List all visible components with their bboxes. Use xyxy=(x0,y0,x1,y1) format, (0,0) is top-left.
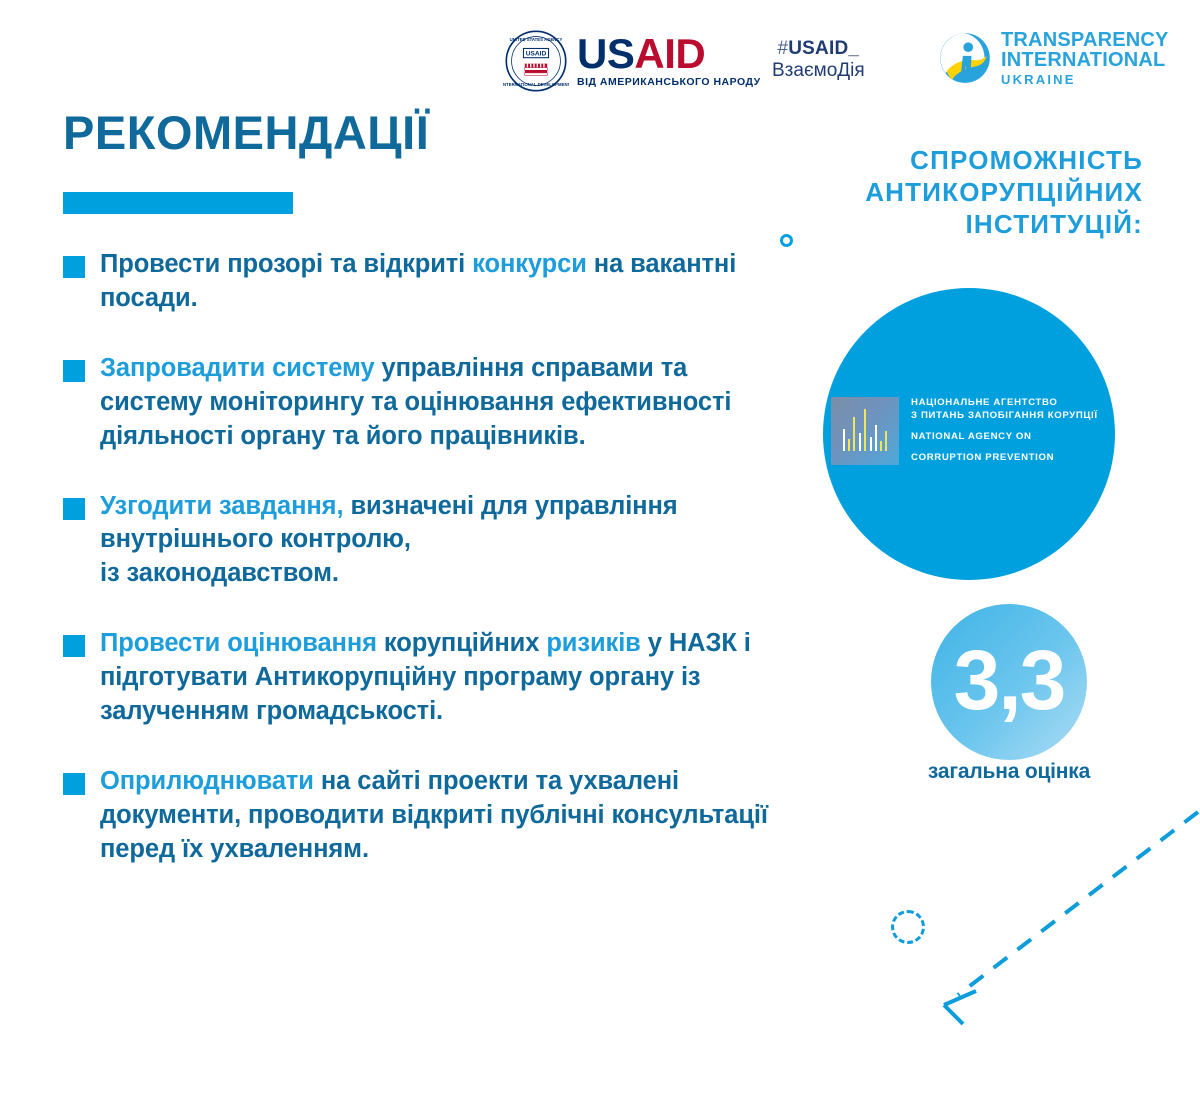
transparency-international-logo: TRANSPARENCY INTERNATIONAL UKRAINE xyxy=(938,30,1169,86)
recommendation-plain: із законодавством. xyxy=(100,559,339,587)
recommendation-text: Оприлюднювати на сайті проекти та ухвале… xyxy=(100,765,793,867)
nazk-name-en-line-2: CORRUPTION PREVENTION xyxy=(911,452,1098,464)
usaid-logo: UNITED STATES AGENCY INTERNATIONAL DEVEL… xyxy=(503,28,761,94)
svg-text:UNITED STATES AGENCY: UNITED STATES AGENCY xyxy=(510,37,563,42)
recommendation-highlight: ризиків xyxy=(546,629,640,657)
recommendation-item: Оприлюднювати на сайті проекти та ухвале… xyxy=(63,765,793,867)
recommendation-item: Провести прозорі та відкриті конкурси на… xyxy=(63,248,793,316)
nazk-bars-icon xyxy=(831,397,899,465)
usaid-word-aid: AID xyxy=(634,30,705,77)
transparency-international-wordmark: TRANSPARENCY INTERNATIONAL UKRAINE xyxy=(1001,30,1169,86)
ti-line-1: TRANSPARENCY xyxy=(1001,30,1169,50)
usaid-wordmark: USAID ВІД АМЕРИКАНСЬКОГО НАРОДУ xyxy=(577,34,761,89)
recommendation-text: Запровадити систему управління справами … xyxy=(100,352,793,454)
recommendation-text: Провести оцінювання корупційних ризиків … xyxy=(100,627,793,729)
recommendation-highlight: Узгодити завдання, xyxy=(100,492,343,520)
bullet-square-icon xyxy=(63,360,85,382)
usaid-seal-icon: UNITED STATES AGENCY INTERNATIONAL DEVEL… xyxy=(503,28,569,94)
transparency-international-icon xyxy=(938,31,992,85)
usaid-word-us: US xyxy=(577,30,634,77)
recommendation-highlight: Провести оцінювання xyxy=(100,629,377,657)
usaid-tagline: ВІД АМЕРИКАНСЬКОГО НАРОДУ xyxy=(577,76,761,88)
recommendations-list: Провести прозорі та відкриті конкурси на… xyxy=(63,248,793,903)
nazk-logo: НАЦІОНАЛЬНЕ АГЕНТСТВО З ПИТАНЬ ЗАПОБІГАН… xyxy=(831,397,1098,465)
recommendation-highlight: Оприлюднювати xyxy=(100,767,314,795)
hash-symbol: # xyxy=(777,38,788,59)
overall-score-badge: 3,3 xyxy=(931,604,1087,760)
ti-line-2: INTERNATIONAL xyxy=(1001,50,1169,70)
usaid-hashtag-lockup: #USAID_ ВзаємоДія xyxy=(772,38,865,83)
bullet-square-icon xyxy=(63,773,85,795)
svg-text:INTERNATIONAL DEVELOPMENT: INTERNATIONAL DEVELOPMENT xyxy=(503,82,569,87)
ti-line-3: UKRAINE xyxy=(1001,73,1169,86)
recommendation-plain: корупційних xyxy=(377,629,546,657)
svg-text:USAID: USAID xyxy=(526,51,547,58)
recommendation-highlight: конкурси xyxy=(472,250,587,278)
overall-score-value: 3,3 xyxy=(954,638,1065,722)
nazk-name-ua-line-1: НАЦІОНАЛЬНЕ АГЕНТСТВО xyxy=(911,397,1098,409)
recommendation-text: Узгодити завдання, визначені для управлі… xyxy=(100,490,793,592)
recommendation-plain: Провести прозорі та відкриті xyxy=(100,250,472,278)
bullet-square-icon xyxy=(63,635,85,657)
recommendation-item: Запровадити систему управління справами … xyxy=(63,352,793,454)
nazk-name: НАЦІОНАЛЬНЕ АГЕНТСТВО З ПИТАНЬ ЗАПОБІГАН… xyxy=(911,397,1098,464)
header-logo-bar: UNITED STATES AGENCY INTERNATIONAL DEVEL… xyxy=(0,0,1200,110)
page-title: РЕКОМЕНДАЦІЇ xyxy=(63,108,429,157)
nazk-name-en-line-1: NATIONAL AGENCY ON xyxy=(911,431,1098,443)
nazk-name-ua-line-2: З ПИТАНЬ ЗАПОБІГАННЯ КОРУПЦІЇ xyxy=(911,410,1098,422)
dashed-arrow-down-left-icon xyxy=(900,800,1200,1030)
recommendation-item: Узгодити завдання, визначені для управлі… xyxy=(63,490,793,592)
recommendation-item: Провести оцінювання корупційних ризиків … xyxy=(63,627,793,729)
bullet-square-icon xyxy=(63,256,85,278)
recommendation-text: Провести прозорі та відкриті конкурси на… xyxy=(100,248,793,316)
overall-score-caption: загальна оцінка xyxy=(859,760,1159,784)
title-underline-rule xyxy=(63,192,293,214)
hashtag-text: USAID_ xyxy=(788,38,859,59)
recommendation-highlight: Запровадити систему xyxy=(100,354,375,382)
circle-outline-icon xyxy=(780,234,793,247)
hashtag-subtitle: ВзаємоДія xyxy=(772,60,865,83)
panel-heading: СПРОМОЖНІСТЬ АНТИКОРУПЦІЙНИХ ІНСТИТУЦІЙ: xyxy=(813,145,1143,241)
bullet-square-icon xyxy=(63,498,85,520)
